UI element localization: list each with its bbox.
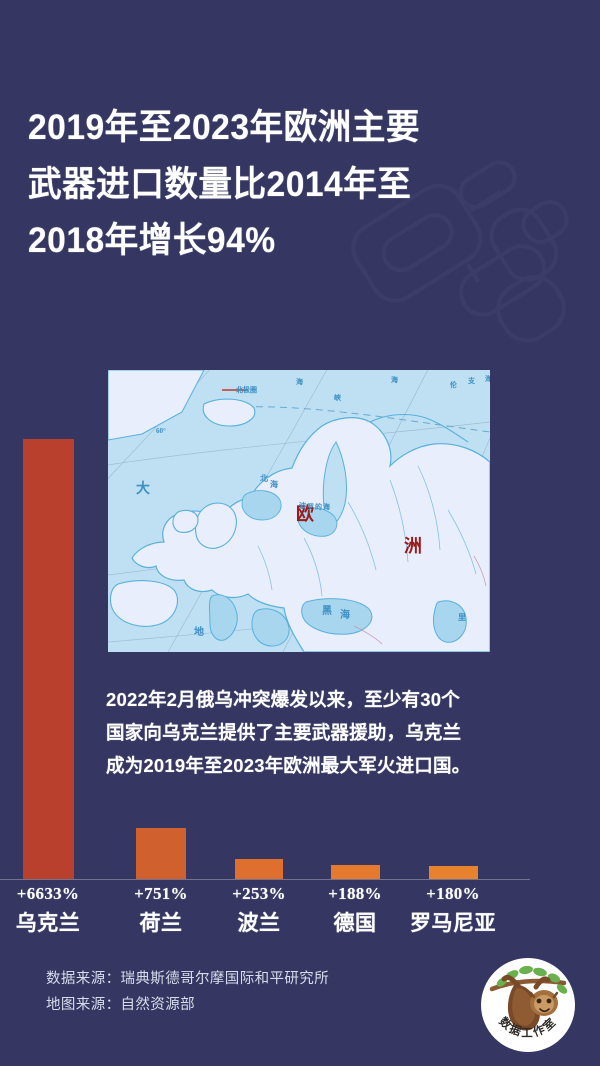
map-label-10: 黑 (322, 605, 332, 617)
map-label-11: 海 (340, 608, 350, 621)
sloth-studio-logo: 数据工作室 (478, 955, 578, 1055)
map-label-12: 地 (194, 625, 204, 638)
map-label-19: 60° (156, 427, 166, 435)
bar-value-罗马尼亚: +180% (378, 884, 528, 904)
chart-baseline (0, 879, 530, 880)
body-line-3: 成为2019年至2023年欧洲最大军火进口国。 (106, 750, 510, 783)
bar-category-罗马尼亚: 罗马尼亚 (378, 907, 528, 937)
map-label-15: 海 (391, 375, 398, 384)
body-line-1: 2022年2月俄乌冲突爆发以来，至少有30个 (106, 684, 510, 717)
bar-荷兰 (136, 828, 186, 879)
page-title: 2019年至2023年欧洲主要 武器进口数量比2014年至 2018年增长94% (28, 100, 537, 270)
map-label-16: 伦 (450, 380, 458, 389)
map-label-8: 的 (315, 502, 322, 511)
title-line-2: 武器进口数量比2014年至 (28, 157, 537, 214)
infographic-poster: 2019年至2023年欧洲主要 武器进口数量比2014年至 2018年增长94% (0, 0, 600, 1066)
map-label-3: 北极圈 (236, 385, 257, 394)
map-label-9: 海 (323, 502, 330, 511)
body-line-2: 国家向乌克兰提供了主要武器援助，乌克兰 (106, 717, 510, 750)
bar-labels: +6633%乌克兰+751%荷兰+253%波兰+188%德国+180%罗马尼亚 (0, 884, 600, 944)
source-footer: 数据来源：瑞典斯德哥尔摩国际和平研究所 地图来源：自然资源部 (46, 967, 329, 1019)
data-source-line: 数据来源：瑞典斯德哥尔摩国际和平研究所 (46, 967, 329, 993)
map-label-5: 海 (270, 479, 278, 489)
bar-label-罗马尼亚: +180%罗马尼亚 (378, 884, 528, 937)
bar-乌克兰 (23, 439, 74, 879)
europe-map: 欧洲大北极圈北海波罗的海黑海地海峡海伦支海60°里 (108, 370, 490, 652)
map-label-6: 波 (299, 501, 307, 510)
map-label-7: 罗 (307, 502, 314, 511)
title-line-1: 2019年至2023年欧洲主要 (28, 100, 537, 157)
bar-德国 (331, 865, 380, 879)
map-label-4: 北 (260, 473, 268, 483)
bar-罗马尼亚 (429, 866, 478, 879)
map-svg: 欧洲大北极圈北海波罗的海黑海地海峡海伦支海60°里 (108, 370, 490, 652)
title-line-3: 2018年增长94% (28, 213, 537, 270)
map-source-line: 地图来源：自然资源部 (46, 993, 329, 1019)
map-label-1: 洲 (404, 536, 422, 556)
bar-波兰 (235, 859, 283, 879)
map-label-13: 海 (296, 377, 303, 386)
map-label-20: 里 (458, 613, 466, 622)
map-label-18: 海 (485, 374, 490, 383)
map-label-2: 大 (136, 480, 150, 497)
body-paragraph: 2022年2月俄乌冲突爆发以来，至少有30个 国家向乌克兰提供了主要武器援助，乌… (106, 684, 510, 783)
map-label-17: 支 (467, 376, 476, 385)
map-label-14: 峡 (334, 393, 342, 402)
